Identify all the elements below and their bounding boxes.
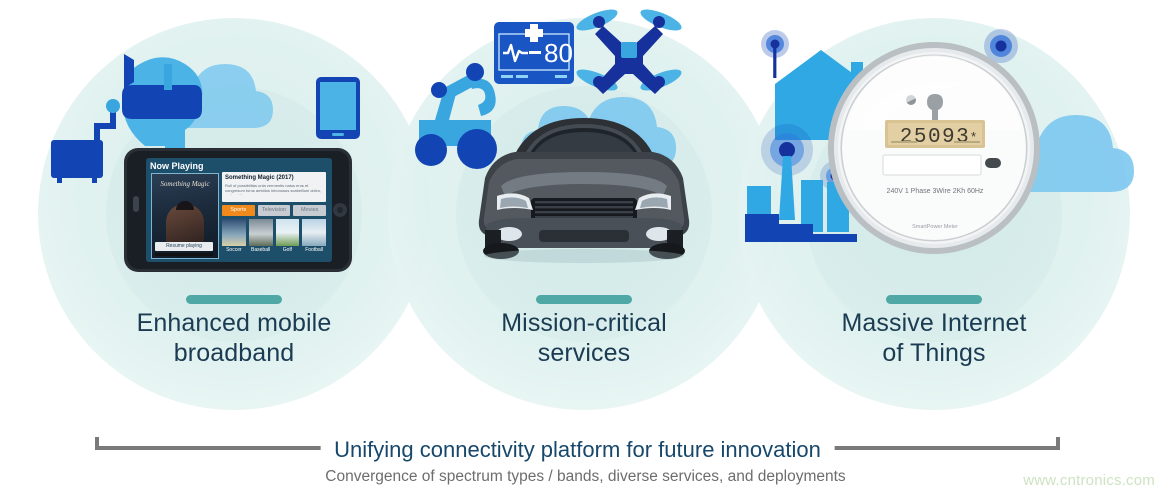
thumb-baseball-label: Baseball <box>249 247 273 253</box>
thumbnail-row: Soccer Baseball Golf Football <box>222 219 326 253</box>
resume-playing-button[interactable]: Resume playing <box>155 242 213 251</box>
panel-3-caption: Massive Internet of Things <box>739 308 1129 368</box>
movie-poster[interactable]: Something Magic Resume playing <box>151 173 219 259</box>
tab-movies[interactable]: Movies <box>293 205 326 216</box>
movie-title: Something Magic (2017) <box>225 175 323 181</box>
drone-icon <box>574 5 684 94</box>
tablet-icon <box>316 77 360 139</box>
panel-2-divider <box>536 295 632 304</box>
meter-spec-text: 240V 1 Phase 3Wire 2Kh 60Hz <box>887 188 984 195</box>
projector-icon <box>51 99 120 183</box>
bracket-title-wrap: Unifying connectivity platform for futur… <box>320 439 835 461</box>
infographic-canvas: Now Playing Something Magic Resume playi… <box>0 0 1171 500</box>
movie-detail-pane: Something Magic (2017) Roll of possibili… <box>222 172 326 202</box>
thumb-golf-label: Golf <box>276 247 300 253</box>
thumb-football[interactable]: Football <box>302 219 326 253</box>
smart-meter-photo: 25093 * 240V 1 Phase 3Wire 2Kh 60Hz Smar… <box>828 42 1040 254</box>
panel-1-artwork: Now Playing Something Magic Resume playi… <box>39 0 429 285</box>
panel-3-caption-line2: of Things <box>739 338 1129 368</box>
panel-2-caption: Mission-critical services <box>389 308 779 368</box>
panel-2-artwork: 80 <box>389 0 779 285</box>
panel-2-caption-line1: Mission-critical <box>389 308 779 338</box>
bracket-tick-right <box>1056 437 1060 450</box>
panel-1-caption-line2: broadband <box>39 338 429 368</box>
robot-arm-vehicle-icon <box>415 63 497 169</box>
panel-2-caption-line2: services <box>389 338 779 368</box>
vr-headset-head-icon <box>122 54 202 160</box>
bracket-tick-left <box>95 437 99 450</box>
thumb-golf[interactable]: Golf <box>276 219 300 253</box>
now-playing-label: Now Playing <box>150 161 204 171</box>
panel-1-caption: Enhanced mobile broadband <box>39 308 429 368</box>
movie-description: Roll of possibilitas unia vermentis natu… <box>225 183 323 195</box>
panel-massive-internet-of-things: 25093 * 240V 1 Phase 3Wire 2Kh 60Hz Smar… <box>739 0 1129 420</box>
panel-1-divider <box>186 295 282 304</box>
poster-title: Something Magic <box>156 180 214 188</box>
patient-monitor-icon: 80 <box>494 22 574 84</box>
watermark: www.cntronics.com <box>1023 472 1155 489</box>
tab-sports[interactable]: Sports <box>222 205 255 216</box>
bracket-subtitle: Convergence of spectrum types / bands, d… <box>0 468 1171 486</box>
panel-enhanced-mobile-broadband: Now Playing Something Magic Resume playi… <box>39 0 429 420</box>
thumb-soccer[interactable]: Soccer <box>222 219 246 253</box>
tab-television[interactable]: Television <box>258 205 291 216</box>
panel-3-artwork: 25093 * 240V 1 Phase 3Wire 2Kh 60Hz Smar… <box>739 0 1129 285</box>
thumb-baseball[interactable]: Baseball <box>249 219 273 253</box>
panel-3-caption-line1: Massive Internet <box>739 308 1129 338</box>
meter-reading-text: 25093 <box>900 126 971 149</box>
panel-mission-critical-services: 80 <box>389 0 779 420</box>
screen-tabs: Sports Television Movies <box>222 205 326 216</box>
panel-3-divider <box>886 295 982 304</box>
phone-screen-ui: Now Playing Something Magic Resume playi… <box>146 158 332 262</box>
bracket-title: Unifying connectivity platform for futur… <box>334 439 821 461</box>
panel-1-caption-line1: Enhanced mobile <box>39 308 429 338</box>
meter-brand-text: SmartPower Meter <box>912 224 958 230</box>
thumb-soccer-label: Soccer <box>222 247 246 253</box>
thumb-football-label: Football <box>302 247 326 253</box>
bracket: Unifying connectivity platform for futur… <box>95 437 1060 451</box>
monitor-value-text: 80 <box>544 38 573 68</box>
